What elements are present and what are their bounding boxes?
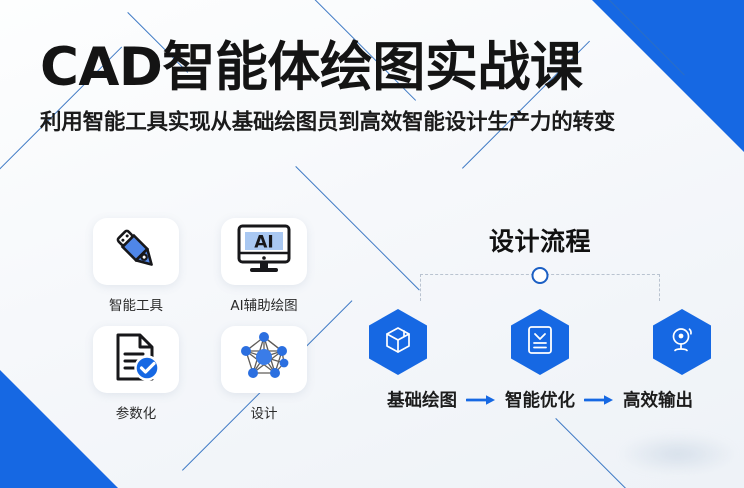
- feature-card-ai-drafting[interactable]: AI AI辅助绘图: [216, 218, 312, 314]
- flow-step-label-optimize: 智能优化: [505, 387, 575, 412]
- feature-label: AI辅助绘图: [230, 294, 297, 314]
- diagonal-line-7: [555, 418, 651, 488]
- flow-hexagon-row: [352, 309, 728, 375]
- page-title: CAD智能体绘图实战课: [40, 40, 712, 96]
- feature-icon-card: [93, 326, 179, 393]
- flow-step-label-basic: 基础绘图: [387, 387, 457, 412]
- hexagon-badge: [653, 309, 711, 375]
- flow-step-icon-output[interactable]: [648, 309, 716, 375]
- 3d-box-icon: [383, 325, 413, 360]
- flow-step-label-output: 高效输出: [623, 387, 693, 412]
- flow-step-icon-basic[interactable]: [364, 309, 432, 375]
- flow-heading: 设计流程: [352, 222, 728, 258]
- feature-label: 设计: [251, 402, 278, 422]
- hexagon-badge: [369, 309, 427, 375]
- location-pin-signal-icon: [667, 325, 697, 360]
- fountain-pen-icon: [110, 223, 162, 280]
- network-nodes-icon: [236, 329, 292, 390]
- feature-card-smart-tools[interactable]: 智能工具: [88, 218, 184, 314]
- flow-arrow-icon-2: [584, 393, 614, 407]
- page-subtitle: 利用智能工具实现从基础绘图员到高效智能设计生产力的转变: [40, 110, 712, 136]
- flow-arrow-icon-1: [466, 393, 496, 407]
- feature-label: 参数化: [116, 402, 157, 422]
- feature-card-design[interactable]: 设计: [216, 326, 312, 422]
- flow-step-icon-optimize[interactable]: [506, 309, 574, 375]
- svg-text:AI: AI: [254, 233, 273, 253]
- poster-header: CAD智能体绘图实战课 利用智能工具实现从基础绘图员到高效智能设计生产力的转变: [40, 40, 712, 135]
- ai-monitor-icon: AI: [235, 222, 293, 281]
- feature-icon-card: [93, 218, 179, 285]
- poster-canvas: CAD智能体绘图实战课 利用智能工具实现从基础绘图员到高效智能设计生产力的转变: [0, 0, 744, 488]
- design-flow-panel: 设计流程: [352, 222, 728, 412]
- feature-icon-card: AI: [221, 218, 307, 285]
- watermark-smudge: [620, 434, 736, 474]
- hexagon-badge: [511, 309, 569, 375]
- flow-connector-bracket: [420, 274, 660, 301]
- feature-icon-card: [221, 326, 307, 393]
- feature-card-parametric[interactable]: 参数化: [88, 326, 184, 422]
- document-check-icon: [109, 330, 163, 389]
- flow-connector-dot: [532, 267, 549, 284]
- flow-step-labels: 基础绘图 智能优化 高效输出: [352, 387, 728, 412]
- feature-card-grid: 智能工具 AI AI辅助绘图: [88, 218, 312, 422]
- document-download-icon: [526, 325, 554, 360]
- feature-label: 智能工具: [109, 294, 163, 314]
